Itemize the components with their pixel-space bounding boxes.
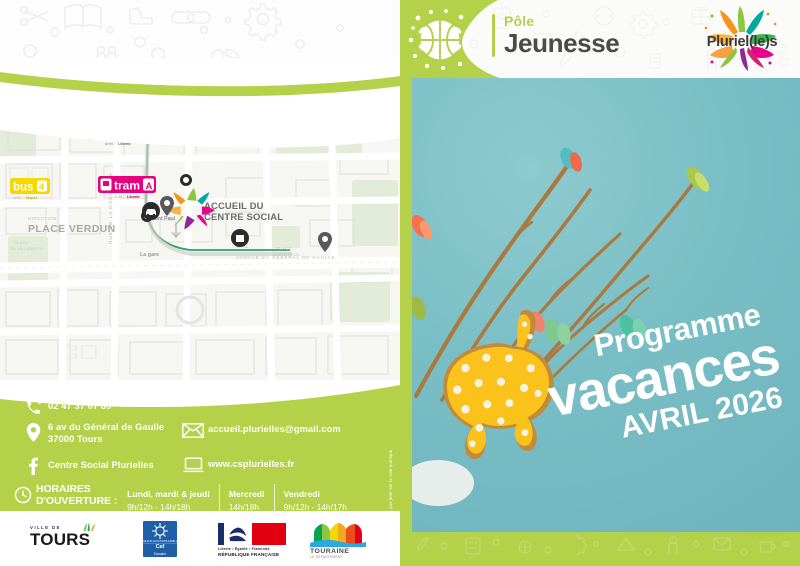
contact-facebook-value: Centre Social Plurielles <box>48 460 154 472</box>
basketball-icon <box>405 4 475 74</box>
contact-phone-value: 02 47 37 07 89 <box>48 401 111 413</box>
phone-icon <box>18 398 48 416</box>
header-rule <box>492 14 495 57</box>
legal-notice: Ne pas jeter sur la voie publique <box>379 418 391 518</box>
opening-hours-label: HORAIRES D'OUVERTURE : <box>36 484 117 507</box>
location-map[interactable]: RUE DE LA DOUANERIE JEAN JAURÈS DIRECTIO… <box>0 60 400 390</box>
logo-ville-de-tours: VILLE DE TOURS <box>30 525 90 549</box>
hours-time: 14h/18h <box>229 502 265 511</box>
hours-column: Vendredi 9h/12h - 14h/17h <box>274 484 356 511</box>
logo-caf: CAISSE D'ALLOCATIONS FAMILIALES Caf Tour… <box>143 521 177 557</box>
cover-header: Pôle Jeunesse <box>400 0 800 78</box>
header-title-block: Pôle Jeunesse <box>492 14 619 57</box>
facebook-icon <box>18 456 48 475</box>
svg-text:PLACE VERDUN: PLACE VERDUN <box>28 223 116 235</box>
hours-day: Lundi, mardi & jeudi <box>127 489 210 499</box>
svg-text:PLACE: PLACE <box>276 246 292 251</box>
hours-day: Vendredi <box>284 489 320 499</box>
logo-caf-divider <box>143 543 177 544</box>
hours-time: 9h/12h - 14h/18h <box>127 502 210 511</box>
right-panel-cover: Programme vacances AVRIL 2026 <box>400 0 800 566</box>
logo-touraine: TOURAINE LE DÉPARTEMENT <box>310 521 366 559</box>
pluriel-logo-text: Pluriel(le)s <box>707 34 778 50</box>
svg-text:A: A <box>146 181 153 192</box>
map-pin-icon <box>18 422 48 442</box>
legal-notice-text: Ne pas jeter sur la voie publique <box>388 450 393 516</box>
contact-address: 6 av du Général de Gaulle 37000 Tours <box>48 422 164 445</box>
hours-column: Mercredi 14h/18h <box>219 484 274 511</box>
contact-address-row[interactable]: 6 av du Général de Gaulle 37000 Tours <box>18 422 164 445</box>
logo-republique-francaise: Liberté • Égalité • Fraternité RÉPUBLIQU… <box>218 523 286 557</box>
contact-facebook-row[interactable]: Centre Social Plurielles <box>18 456 154 475</box>
footer-doodle-pattern <box>400 532 800 566</box>
svg-text:Liberté: Liberté <box>127 195 140 199</box>
pluriel-logo[interactable]: Pluriel(le)s <box>692 6 792 74</box>
logo-rf-motto: Liberté • Égalité • Fraternité <box>218 547 286 551</box>
svg-text:PLACE: PLACE <box>14 240 29 245</box>
svg-text:Mapet: Mapet <box>26 196 38 200</box>
hours-time: 9h/12h - 14h/17h <box>284 502 347 511</box>
hours-day: Mercredi <box>229 489 265 499</box>
logo-touraine-big: TOURAINE <box>310 548 366 555</box>
contact-email-value: accueil.plurielles@gmail.com <box>208 424 341 436</box>
header-title: Jeunesse <box>504 30 619 57</box>
contact-block: 02 47 37 07 89 6 av du Général de Gaulle… <box>0 380 400 511</box>
envelope-icon <box>178 422 208 438</box>
cover-footer-strip <box>400 532 800 566</box>
header-text: Pôle Jeunesse <box>504 14 619 57</box>
contact-email-row[interactable]: accueil.plurielles@gmail.com <box>178 422 341 438</box>
laptop-icon <box>178 456 208 473</box>
logo-tours-big: TOURS <box>30 531 90 549</box>
svg-text:CENTRE SOCIAL: CENTRE SOCIAL <box>204 211 283 222</box>
contact-phone-row[interactable]: 02 47 37 07 89 <box>18 398 111 416</box>
hours-label-line1: HORAIRES <box>36 484 117 496</box>
svg-text:bus: bus <box>13 182 33 194</box>
svg-text:La gare: La gare <box>140 252 159 258</box>
contact-address-line2: 37000 Tours <box>48 434 164 446</box>
svg-text:DIRECTION: DIRECTION <box>28 216 57 221</box>
svg-text:Arrêt :: Arrêt : <box>105 142 115 146</box>
svg-text:4: 4 <box>39 182 44 192</box>
svg-text:Arrêt :: Arrêt : <box>114 195 124 199</box>
logo-caf-big: Caf <box>143 544 177 550</box>
svg-text:SAINT PAUL: SAINT PAUL <box>272 252 300 257</box>
partner-logos: VILLE DE TOURS CAISSE D'ALLOCATIONS FAMI… <box>0 511 400 566</box>
logo-caf-sub: Touraine <box>143 552 177 556</box>
logo-rf-big: RÉPUBLIQUE FRANÇAISE <box>218 552 286 557</box>
hours-column: Lundi, mardi & jeudi 9h/12h - 14h/18h <box>127 484 219 511</box>
contact-address-line1: 6 av du Général de Gaulle <box>48 422 164 434</box>
hours-columns: Lundi, mardi & jeudi 9h/12h - 14h/18h Me… <box>127 484 356 511</box>
svg-text:Arrêt :: Arrêt : <box>13 196 23 200</box>
svg-text:DE LA LIBERTÉ: DE LA LIBERTÉ <box>10 246 43 251</box>
svg-text:tram: tram <box>114 179 140 193</box>
opening-hours: HORAIRES D'OUVERTURE : Lundi, mardi & je… <box>14 484 356 511</box>
contact-website-value: www.csplurielles.fr <box>208 459 294 471</box>
header-eyebrow: Pôle <box>504 14 619 29</box>
brochure-page: RUE DE LA DOUANERIE JEAN JAURÈS DIRECTIO… <box>0 0 800 566</box>
cover-photo: Programme vacances AVRIL 2026 <box>412 78 800 532</box>
logo-touraine-sub: LE DÉPARTEMENT <box>310 555 366 559</box>
contact-website-row[interactable]: www.csplurielles.fr <box>178 456 294 473</box>
hours-label-line2: D'OUVERTURE : <box>36 496 117 508</box>
clock-icon <box>14 484 32 509</box>
left-panel: RUE DE LA DOUANERIE JEAN JAURÈS DIRECTIO… <box>0 0 400 566</box>
